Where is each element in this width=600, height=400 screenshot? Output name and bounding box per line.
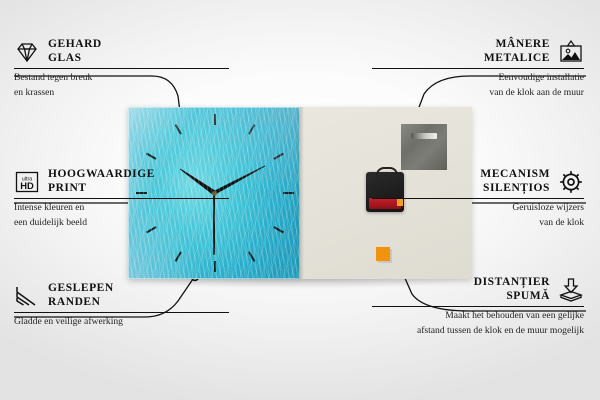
callout-title-line2: GLAS [48, 52, 102, 66]
clock-tick [175, 251, 182, 262]
callout-mecanism-silentios: MECANISM SILENȚIOS Geruisloze wijzers va… [372, 168, 584, 229]
callout-title-line2: PRINT [48, 182, 155, 196]
infographic-canvas: GEHARD GLAS Bestand tegen breuk en krass… [0, 0, 600, 400]
callout-hoogwaardige-print: ultra HD HOOGWAARDIGE PRINT Intense kleu… [14, 168, 229, 229]
diamond-icon [14, 39, 40, 65]
foam-spacer-arrow-icon [558, 277, 584, 303]
callout-rule [14, 198, 229, 199]
callout-rule [372, 306, 584, 307]
callout-desc-line1: Maakt het behouden van een gelijke [372, 310, 584, 322]
callout-desc-line1: Gladde en veilige afwerking [14, 316, 229, 328]
callout-title-line1: MÂNERE [484, 38, 550, 52]
callout-rule [372, 198, 584, 199]
callout-desc-line1: Eenvoudige installatie [372, 72, 584, 84]
callout-rule [14, 68, 229, 69]
callout-gehard-glas: GEHARD GLAS Bestand tegen breuk en krass… [14, 38, 229, 99]
beveled-edges-icon [14, 283, 40, 309]
callout-title-line2: RANDEN [48, 296, 114, 310]
callout-title-line2: METALICE [484, 52, 550, 66]
ultra-hd-icon: ultra HD [14, 169, 40, 195]
callout-title-line1: GESLEPEN [48, 282, 114, 296]
callout-rule [372, 68, 584, 69]
gear-icon [558, 169, 584, 195]
clock-tick [283, 192, 294, 194]
callout-desc-line1: Bestand tegen breuk [14, 72, 229, 84]
callout-desc-line2: afstand tussen de klok en de muur mogeli… [372, 325, 584, 337]
callout-distantier-spuma: DISTANȚIER SPUMĂ Maakt het behouden van … [372, 276, 584, 337]
callout-header: MÂNERE METALICE [372, 38, 584, 65]
hanger-keyhole-slot [411, 133, 437, 139]
clock-tick [175, 124, 182, 135]
metal-hanger-plate [401, 124, 447, 170]
clock-tick [214, 261, 216, 272]
callout-title-line2: SILENȚIOS [480, 182, 550, 196]
clock-tick [273, 226, 284, 233]
callout-title-line1: MECANISM [480, 168, 550, 182]
callout-header: MECANISM SILENȚIOS [372, 168, 584, 195]
callout-desc-line2: en krassen [14, 87, 229, 99]
callout-desc-line2: van de klok [372, 217, 584, 229]
callout-manere-metalice: MÂNERE METALICE Eenvoudige installatie v… [372, 38, 584, 99]
callout-desc-line1: Geruisloze wijzers [372, 202, 584, 214]
clock-tick [248, 124, 255, 135]
callout-desc-line2: een duidelijk beeld [14, 217, 229, 229]
clock-tick [146, 153, 157, 160]
callout-title-line1: HOOGWAARDIGE [48, 168, 155, 182]
clock-tick [214, 114, 216, 125]
callout-header: GEHARD GLAS [14, 38, 229, 65]
callout-header: DISTANȚIER SPUMĂ [372, 276, 584, 303]
callout-title-line2: SPUMĂ [474, 290, 550, 304]
hanging-picture-frame-icon [558, 39, 584, 65]
foam-spacer-pad [376, 247, 390, 261]
callout-rule [14, 312, 229, 313]
callout-desc-line2: van de klok aan de muur [372, 87, 584, 99]
callout-title-line1: GEHARD [48, 38, 102, 52]
ultra-hd-icon-bottom-text: HD [20, 180, 34, 191]
clock-tick [248, 251, 255, 262]
callout-header: GESLEPEN RANDEN [14, 282, 229, 309]
callout-header: ultra HD HOOGWAARDIGE PRINT [14, 168, 229, 195]
clock-tick [273, 153, 284, 160]
callout-title-line1: DISTANȚIER [474, 276, 550, 290]
callout-desc-line1: Intense kleuren en [14, 202, 229, 214]
callout-geslepen-randen: GESLEPEN RANDEN Gladde en veilige afwerk… [14, 282, 229, 328]
